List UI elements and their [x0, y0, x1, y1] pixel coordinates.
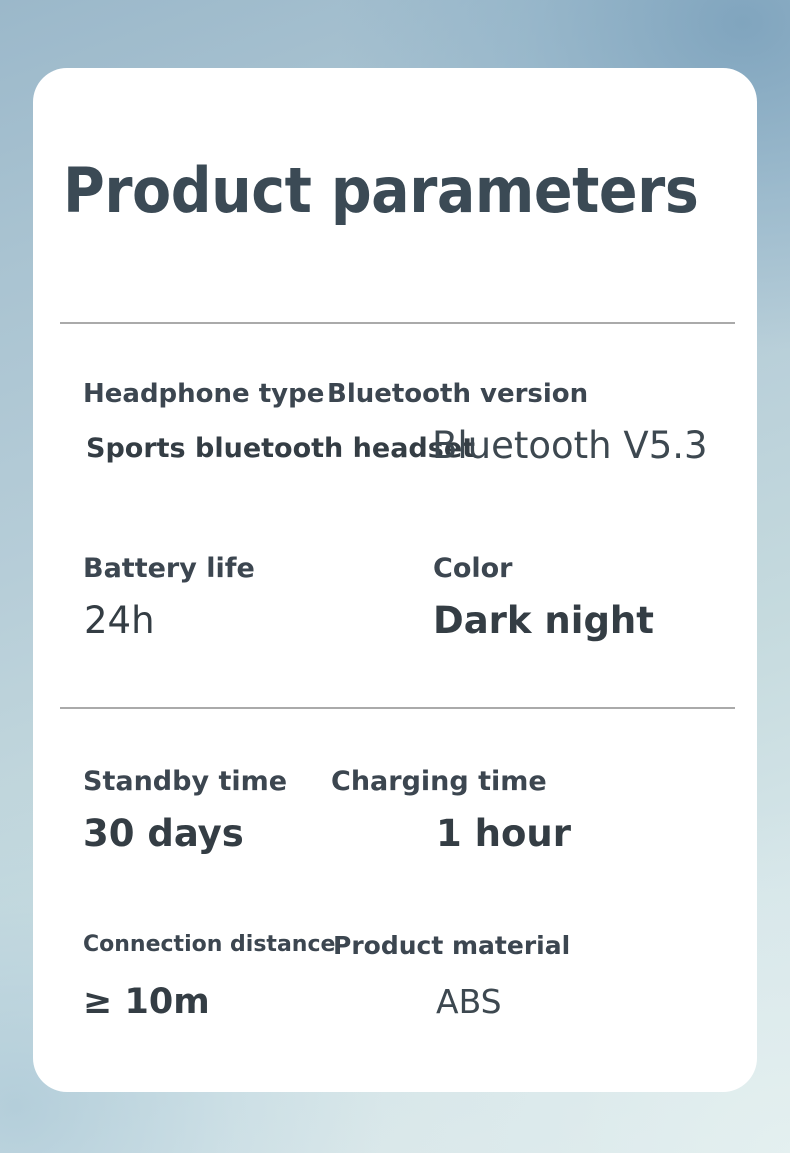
divider-middle — [60, 707, 735, 709]
parameter-value: 30 days — [83, 815, 287, 854]
parameter-label: Connection distance — [83, 933, 335, 956]
parameter-label: Standby time — [83, 768, 287, 796]
page-title: Product parameters — [63, 160, 698, 222]
parameter-label: Charging time — [331, 768, 571, 796]
parameter-label: Color — [433, 555, 654, 583]
parameter-value: Dark night — [433, 602, 654, 641]
parameter-cell-product-material: Product material ABS — [333, 933, 570, 1020]
parameter-value: ABS — [436, 985, 570, 1020]
parameter-label: Product material — [333, 933, 570, 959]
parameter-value: Bluetooth V5.3 — [432, 427, 708, 466]
parameter-value: 24h — [84, 602, 255, 641]
parameter-label: Battery life — [83, 555, 255, 583]
product-parameters-card: Product parameters Headphone type Sports… — [33, 68, 757, 1092]
parameter-cell-charging-time: Charging time 1 hour — [331, 768, 571, 854]
parameter-label: Bluetooth version — [327, 381, 708, 408]
divider-top — [60, 322, 735, 324]
parameter-cell-standby-time: Standby time 30 days — [83, 768, 287, 854]
parameter-cell-color: Color Dark night — [433, 555, 654, 641]
parameter-cell-battery-life: Battery life 24h — [83, 555, 255, 641]
parameter-cell-bluetooth-version: Bluetooth version Bluetooth V5.3 — [327, 381, 708, 466]
parameter-value: 1 hour — [436, 815, 571, 854]
parameter-value: ≥ 10m — [83, 984, 335, 1021]
parameter-cell-connection-distance: Connection distance ≥ 10m — [83, 933, 335, 1021]
